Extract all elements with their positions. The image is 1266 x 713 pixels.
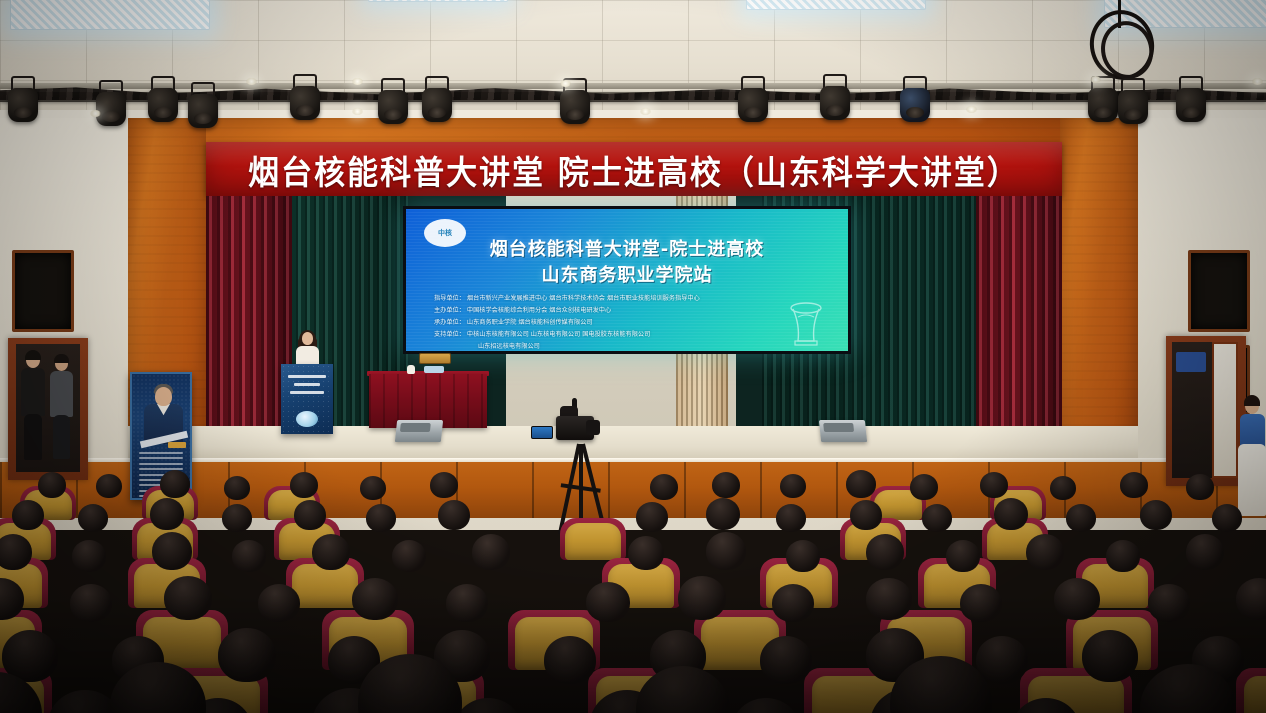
audience-head [392,540,426,572]
audience-head [1050,476,1076,500]
slide-credits: 指导单位： 烟台市新兴产业发展推进中心 烟台市科学技术协会 烟台市职业技能培训服… [434,293,834,353]
audience-head [636,502,668,532]
audience-head [294,500,326,530]
audience-head [946,540,980,572]
audience-head [312,534,350,570]
audience-head [160,470,190,498]
audience-head [258,584,300,622]
audience-head [96,474,122,498]
stage-light [422,76,452,122]
slide-subtitle: 山东商务职业学院站 [406,261,848,287]
stage-light [378,78,408,124]
audience-head [1066,504,1096,532]
audience-head [866,534,904,570]
speaker-at-podium [291,332,323,368]
organization-logo-text: 中核 [438,230,452,237]
audience-head [12,500,44,530]
audience-head [152,532,192,570]
ceiling-downlight [640,108,651,115]
credit-line: 指导单位： 烟台市新兴产业发展推进中心 烟台市科学技术协会 烟台市职业技能培训服… [434,293,834,305]
credit-line: 承办单位： 山东商务职业学院 烟台核能科创传媒有限公司 [434,317,834,329]
ceiling-downlight [90,110,101,117]
ceiling-light-panel [10,0,210,30]
audience-head [922,504,952,532]
auditorium-photo: 烟台核能科普大讲堂 院士进高校（山东科学大讲堂） 中核 烟台核能科普大讲堂-院士… [0,0,1266,713]
stage-light [1088,76,1118,122]
stage-light [96,80,126,126]
ceiling-downlight [246,78,257,85]
audience-head [980,472,1008,498]
audience-head [1054,578,1100,620]
audience-head [650,474,678,500]
audience-head [850,500,882,530]
ceiling-light-panel [368,0,508,2]
organization-logo-icon: 中核 [424,219,466,247]
stage-light [900,76,930,122]
audience-head [1082,630,1138,682]
audience-head [72,540,106,572]
audience-head [222,504,252,532]
audience-seating [0,470,1266,713]
stage-light [820,74,850,120]
audience-head [706,498,740,530]
audience-head [70,584,112,622]
audience-head [866,578,912,620]
audience-head [846,470,876,498]
poster-nameplate [168,442,186,448]
standing-person-left-2 [50,356,74,460]
audience-head [78,504,108,532]
slide-title: 烟台核能科普大讲堂-院士进高校 [406,235,848,261]
stage-floor-monitor [395,420,443,442]
audience-head [150,498,184,530]
audience-head [910,474,938,500]
audience-head [732,698,800,713]
audience-head [164,576,212,620]
stage-light [8,76,38,122]
camera-lens-icon [586,420,600,435]
audience-head [1186,534,1224,570]
audience-head [1148,584,1190,622]
credit-line: 山东招远核电有限公司 [434,341,834,353]
desk-sign [419,353,451,364]
camera-lcd-screen [531,426,553,439]
stage-curtain-red-right [976,196,1062,448]
audience-head [430,472,458,498]
stage-curtain-red-left [206,196,292,448]
ceiling-downlight [352,78,363,85]
audience-head [780,474,806,498]
audience-head [446,584,488,622]
audience-head [224,476,250,500]
water-cup [407,365,415,374]
ceiling-downlight [352,108,363,115]
wall-acoustic-panel [12,250,74,332]
audience-head [776,504,806,532]
audience-head [1120,472,1148,498]
audience-head [366,504,396,532]
audience-head [472,534,510,570]
audience-head [1236,578,1266,620]
doorway-poster [1176,352,1206,372]
audience-head [1106,540,1140,572]
audience-head [786,540,820,572]
audience-head [218,628,276,682]
audience-head [994,498,1028,530]
podium [281,364,333,434]
audience-head [0,534,32,570]
proscenium-right-pillar [1060,118,1138,448]
audience-head [232,540,266,572]
ceiling-light-panel [746,0,926,10]
audience-head [544,636,596,684]
ceiling-downlight [560,80,571,87]
stage-light [1118,78,1148,124]
ceiling-downlight [1090,76,1101,83]
credit-line: 支持单位： 中核山东核能有限公司 山东核电有限公司 国电投胶东核能有限公司 [434,329,834,341]
credit-line: 主办单位： 中国核学会核能综合利用分会 烟台众创核电研发中心 [434,305,834,317]
stage-light [188,82,218,128]
stage-floor-monitor [819,420,867,442]
ceiling-downlight [966,106,977,113]
wall-acoustic-panel [1188,250,1250,332]
projection-screen: 中核 烟台核能科普大讲堂-院士进高校 山东商务职业学院站 指导单位： 烟台市新兴… [403,206,851,354]
podium-logo-icon [296,411,318,427]
audience-head [438,500,470,530]
audience-head [290,472,318,498]
audience-head [1026,534,1064,570]
stage-light [1176,76,1206,122]
ceiling-downlight [1252,78,1263,85]
stage-light [148,76,178,122]
nameplate [424,366,444,373]
audience-head [772,584,814,622]
audience-head [1186,474,1214,500]
audience-head [628,536,664,570]
stage-light [290,74,320,120]
stage-light [738,76,768,122]
audience-head [678,576,726,620]
audience-head [712,472,740,498]
audience-head [706,532,746,570]
audience-head [352,578,398,620]
audience-head [1212,504,1242,532]
event-banner-text: 烟台核能科普大讲堂 院士进高校（山东科学大讲堂） [248,145,1020,193]
event-banner: 烟台核能科普大讲堂 院士进高校（山东科学大讲堂） [206,142,1062,196]
audience-head [586,582,630,622]
audience-head [960,584,1002,622]
standing-person-left [20,352,46,462]
audience-head [760,636,812,684]
audience-head [1140,500,1172,530]
right-door-panel[interactable] [1212,342,1238,478]
audience-head [38,472,66,498]
audience-head [360,476,386,500]
cooling-tower-watermark-icon [780,299,832,347]
